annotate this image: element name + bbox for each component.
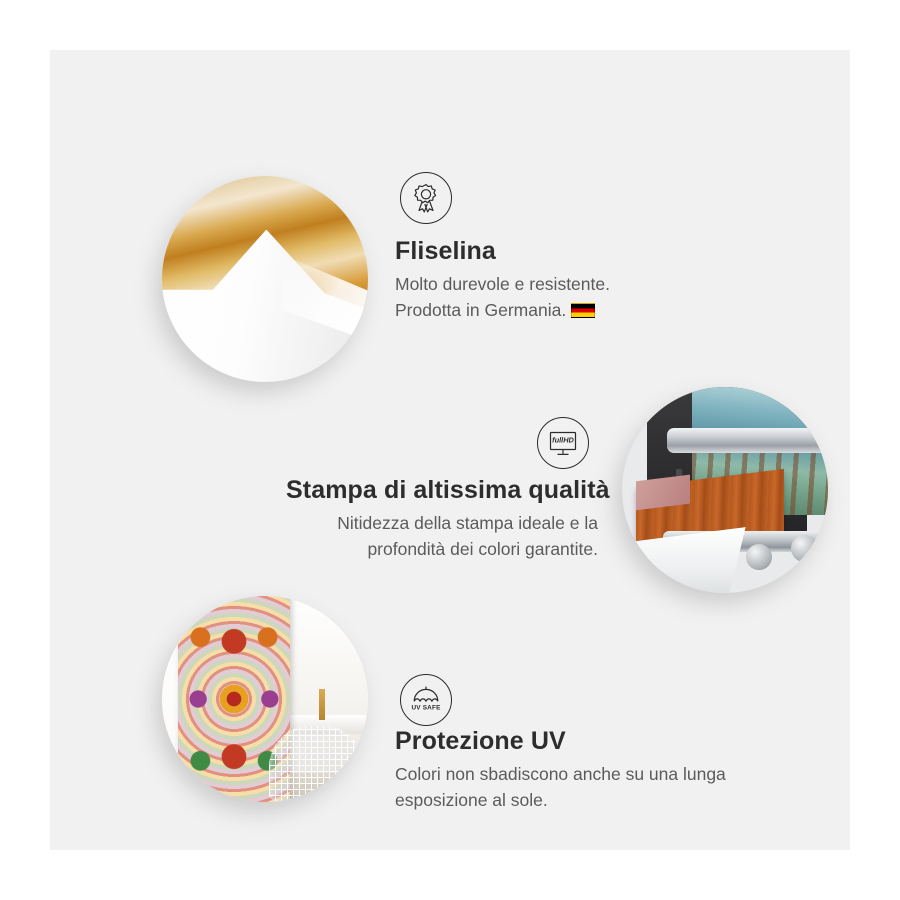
feature-title: Fliselina (395, 236, 610, 267)
feature-body: Colori non sbadiscono anche su una lunga… (395, 762, 726, 813)
feature-text-uv: Protezione UV Colori non sbadiscono anch… (395, 726, 726, 813)
wire-chair (269, 726, 364, 802)
content-panel: Fliselina Molto durevole e resistente. P… (50, 50, 850, 850)
feature-body-line: Colori non sbadiscono anche su una lunga (395, 762, 726, 787)
printer-knob (791, 535, 818, 562)
feature-body-line: profondità dei colori garantite. (286, 537, 598, 562)
svg-text:fullHD: fullHD (552, 436, 574, 445)
feature-text-fliselina: Fliselina Molto durevole e resistente. P… (395, 236, 610, 323)
feature-title: Protezione UV (395, 726, 726, 757)
candle-holder (319, 689, 325, 720)
uv-safe-umbrella-icon: UV SAFE (400, 674, 452, 726)
feature-body-text: Prodotta in Germania. (395, 300, 566, 320)
feature-body: Nitidezza della stampa ideale e la profo… (286, 511, 598, 562)
feature-body-line: Nitidezza della stampa ideale e la (286, 511, 598, 536)
large-format-printer-photo (622, 387, 828, 593)
feature-body-line: Prodotta in Germania. (395, 298, 610, 323)
fullhd-monitor-icon: fullHD (537, 417, 589, 469)
feature-title: Stampa di altissima qualità (286, 475, 598, 506)
svg-text:UV SAFE: UV SAFE (411, 704, 441, 711)
feature-body-line: esposizione al sole. (395, 788, 726, 813)
award-rosette-icon (400, 172, 452, 224)
feature-body-line: Molto durevole e resistente. (395, 272, 610, 297)
printer-roller-top (667, 428, 828, 453)
room-window (290, 596, 368, 724)
mandala-wallpaper-room-photo (162, 596, 368, 802)
wallpaper-roll-photo (162, 176, 368, 382)
feature-text-stampa: Stampa di altissima qualità Nitidezza de… (286, 475, 598, 562)
feature-body: Molto durevole e resistente. Prodotta in… (395, 272, 610, 323)
infographic-page: Fliselina Molto durevole e resistente. P… (0, 0, 900, 900)
german-flag-icon (571, 303, 595, 318)
printed-deck-highlight (636, 474, 690, 509)
